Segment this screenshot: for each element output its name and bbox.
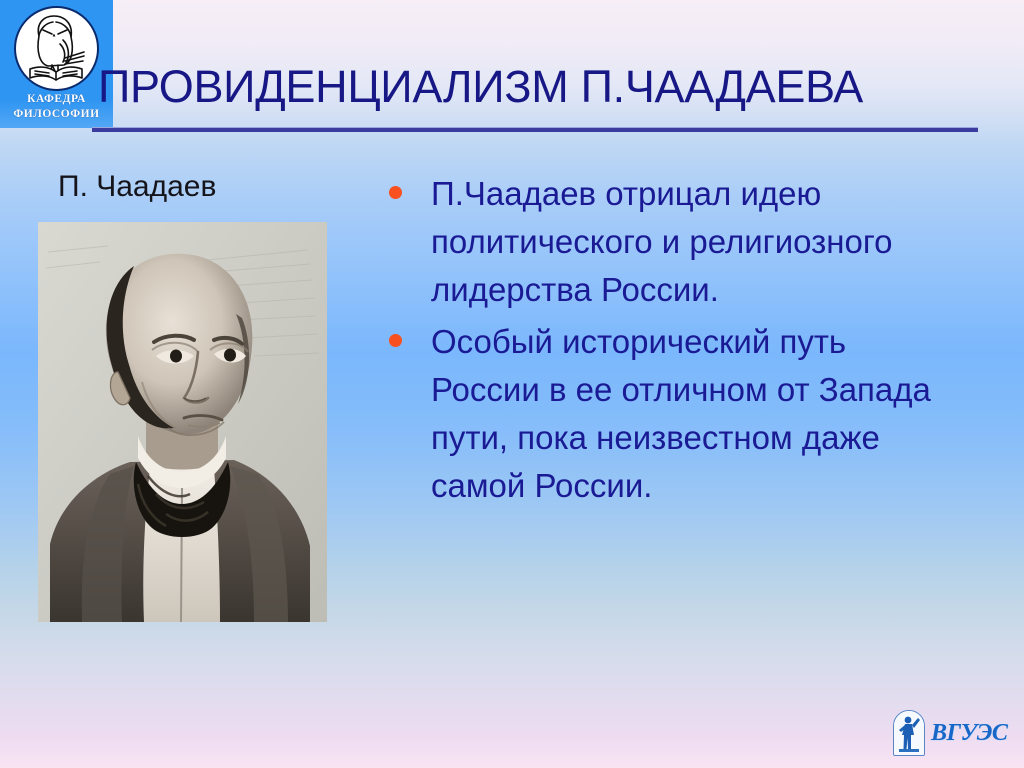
presentation-slide: КАФЕДРА ФИЛОСОФИИ ПРОВИДЕНЦИАЛИЗМ П.ЧААД…	[0, 0, 1024, 768]
owl-on-book-icon	[14, 6, 99, 91]
bullet-dot-icon	[389, 186, 402, 199]
department-logo-line1: КАФЕДРА	[0, 92, 113, 107]
statue-badge-icon	[893, 710, 925, 756]
bullet-text: Особый исторический путь России в ее отл…	[431, 318, 959, 510]
bullet-text: П.Чаадаев отрицал идею политического и р…	[431, 170, 959, 314]
list-item: П.Чаадаев отрицал идею политического и р…	[389, 170, 959, 314]
title-divider	[92, 127, 978, 132]
portrait-caption: П. Чаадаев	[58, 168, 216, 206]
list-item: Особый исторический путь России в ее отл…	[389, 318, 959, 510]
portrait-image	[38, 222, 327, 622]
university-logo-text: ВГУЭС	[931, 720, 1011, 746]
slide-title: ПРОВИДЕНЦИАЛИЗМ П.ЧААДАЕВА	[98, 60, 1018, 114]
bullet-list: П.Чаадаев отрицал идею политического и р…	[389, 170, 959, 514]
department-logo-text: КАФЕДРА ФИЛОСОФИИ	[0, 92, 113, 122]
department-logo: КАФЕДРА ФИЛОСОФИИ	[0, 0, 113, 128]
university-logo: ВГУЭС	[893, 707, 1011, 759]
bullet-dot-icon	[389, 334, 402, 347]
department-logo-line2: ФИЛОСОФИИ	[0, 107, 113, 122]
